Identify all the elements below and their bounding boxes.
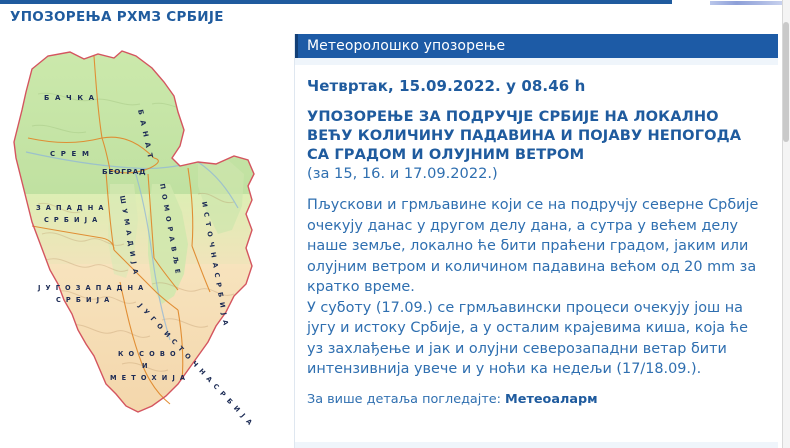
map-label-zapadna-srbija-line2: С Р Б И Ј А xyxy=(44,216,99,224)
panel-bottom-strip xyxy=(295,442,778,448)
warning-footer-prefix: За више детаља погледајте: xyxy=(307,392,505,407)
meteoalarm-link[interactable]: Метеоаларм xyxy=(505,392,598,407)
page-scrollbar-track[interactable] xyxy=(782,0,790,448)
map-label-jugozapadna-srbija: Ј У Г О З А П А Д Н А xyxy=(37,284,145,292)
panel-subbar xyxy=(295,58,778,65)
map-label-jugozapadna-srbija-line2: С Р Б И Ј А xyxy=(56,296,111,304)
map-label-metohija: М Е Т О Х И Ј А xyxy=(110,374,186,382)
warning-subheading: (за 15, 16. и 17.09.2022.) xyxy=(307,164,766,183)
warning-paragraph-2: У суботу (17.09.) се грмљавински процеси… xyxy=(307,298,766,380)
weather-warning-panel: Метеоролошко упозорење Четвртак, 15.09.2… xyxy=(294,34,778,448)
warning-paragraph-1: Пљускови и грмљавине који се на подручју… xyxy=(307,195,766,298)
page-title: УПОЗОРЕЊА РХМЗ СРБИЈЕ xyxy=(10,9,224,25)
warning-date: Четвртак, 15.09.2022. у 08.46 h xyxy=(307,77,766,95)
map-label-zapadna-srbija: З А П А Д Н А xyxy=(36,204,105,212)
map-label-srem: С Р Е М xyxy=(50,150,91,158)
serbia-map: Б А Ч К А Б А Н А Т С Р Е М БЕОГРАД З А … xyxy=(2,34,287,444)
top-accent-rule xyxy=(0,0,672,4)
map-label-kosovo-i: И xyxy=(142,362,149,370)
panel-header-title: Метеоролошко упозорење xyxy=(307,38,505,54)
map-label-kosovo: К О С О В О xyxy=(118,350,177,358)
top-right-accent-bar xyxy=(710,1,786,5)
page-scrollbar-thumb[interactable] xyxy=(783,22,789,142)
panel-body: Четвртак, 15.09.2022. у 08.46 h УПОЗОРЕЊ… xyxy=(295,65,778,407)
map-label-backa: Б А Ч К А xyxy=(44,94,96,102)
warning-footer: За више детаља погледајте: Метеоаларм xyxy=(307,392,766,407)
panel-header: Метеоролошко упозорење xyxy=(295,34,778,58)
map-label-beograd: БЕОГРАД xyxy=(102,167,146,176)
warning-heading: УПОЗОРЕЊЕ ЗА ПОДРУЧЈЕ СРБИЈЕ НА ЛОКАЛНО … xyxy=(307,107,766,164)
